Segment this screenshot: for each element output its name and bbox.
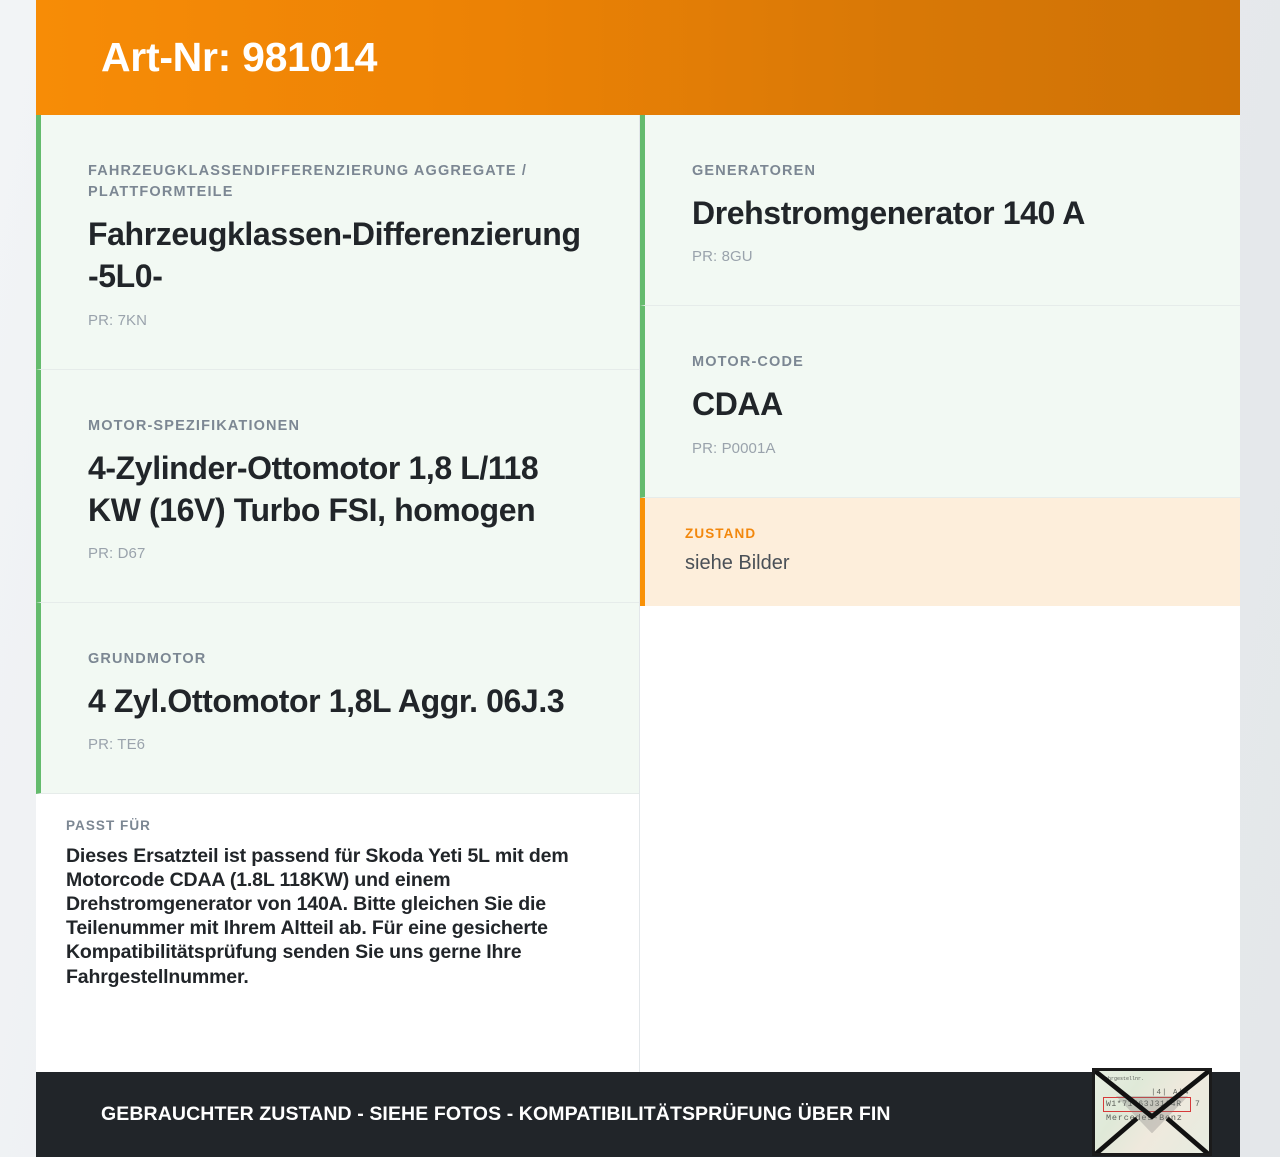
spec-value: 4 Zyl.Ottomotor 1,8L Aggr. 06J.3 (88, 680, 593, 722)
spec-pr-code: PR: P0001A (692, 440, 1194, 457)
status-badge: ZUSTAND (685, 524, 1194, 544)
fits-for-text: Dieses Ersatzteil ist passend für Skoda … (66, 844, 593, 989)
left-column: FAHRZEUGKLASSENDIFFERENZIERUNG AGGREGATE… (36, 115, 640, 1072)
envelope-icon: Fahrgestellnr. |4| A|4 W1*71463J31*4R 7 … (1092, 1068, 1212, 1156)
fits-for-card: PASST FÜR Dieses Ersatzteil ist passend … (36, 794, 639, 1015)
spec-label: GENERATOREN (692, 161, 1194, 182)
envelope-lines-icon (1095, 1071, 1209, 1155)
spec-label: MOTOR-SPEZIFIKATIONEN (88, 416, 593, 437)
right-column: GENERATOREN Drehstromgenerator 140 A PR:… (640, 115, 1240, 1072)
spec-label: FAHRZEUGKLASSENDIFFERENZIERUNG AGGREGATE… (88, 161, 593, 203)
spec-label: GRUNDMOTOR (88, 649, 593, 670)
status-value: siehe Bilder (685, 550, 1194, 576)
footer-banner: GEBRAUCHTER ZUSTAND - SIEHE FOTOS - KOMP… (36, 1072, 1240, 1157)
spec-label: MOTOR-CODE (692, 352, 1194, 373)
spec-pr-code: PR: 7KN (88, 312, 593, 329)
spec-card-motor-spezifikationen: MOTOR-SPEZIFIKATIONEN 4-Zylinder-Ottomot… (36, 370, 639, 603)
spec-pr-code: PR: TE6 (88, 736, 593, 753)
spec-card-motor-code: MOTOR-CODE CDAA PR: P0001A (640, 306, 1240, 497)
spec-value: CDAA (692, 383, 1194, 425)
spec-card-fahrzeugklasse: FAHRZEUGKLASSENDIFFERENZIERUNG AGGREGATE… (36, 115, 639, 370)
spec-value: 4-Zylinder-Ottomotor 1,8 L/118 KW (16V) … (88, 447, 593, 531)
footer-text: GEBRAUCHTER ZUSTAND - SIEHE FOTOS - KOMP… (101, 1103, 891, 1126)
spec-card-grundmotor: GRUNDMOTOR 4 Zyl.Ottomotor 1,8L Aggr. 06… (36, 603, 639, 794)
spec-pr-code: PR: 8GU (692, 248, 1194, 265)
spec-pr-code: PR: D67 (88, 545, 593, 562)
spec-value: Fahrzeugklassen-Differenzierung -5L0- (88, 213, 593, 297)
product-info-card: Art-Nr: 981014 FAHRZEUGKLASSENDIFFERENZI… (0, 0, 1280, 1157)
status-card-zustand: ZUSTAND siehe Bilder (640, 498, 1240, 607)
spec-value: Drehstromgenerator 140 A (692, 192, 1194, 234)
fits-for-label: PASST FÜR (66, 816, 593, 836)
header-banner: Art-Nr: 981014 (36, 0, 1240, 115)
page-title: Art-Nr: 981014 (101, 35, 377, 80)
spec-card-generatoren: GENERATOREN Drehstromgenerator 140 A PR:… (640, 115, 1240, 306)
content-area: FAHRZEUGKLASSENDIFFERENZIERUNG AGGREGATE… (36, 115, 1240, 1072)
